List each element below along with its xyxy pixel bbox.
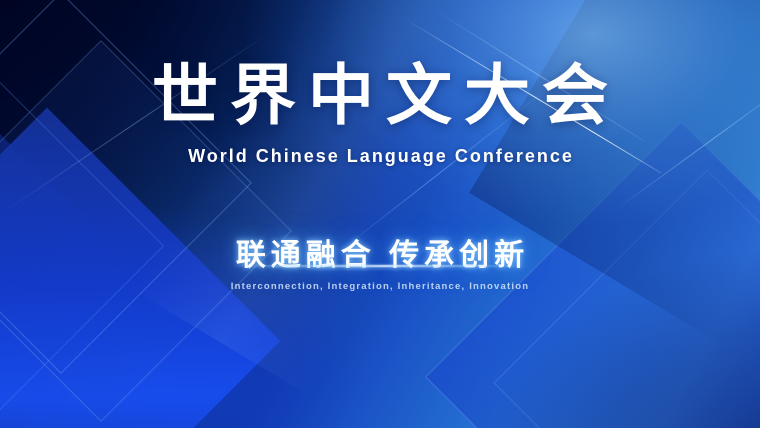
poster-content: 世界中文大会 World Chinese Language Conference… xyxy=(0,0,760,428)
slogan-english: Interconnection, Integration, Inheritanc… xyxy=(231,281,529,292)
page-subtitle: World Chinese Language Conference xyxy=(186,146,574,167)
slogan-glow-streak xyxy=(200,261,560,273)
slogan-block: 联通融合 传承创新 Interconnection, Integration, … xyxy=(231,230,529,292)
conference-poster: 世界中文大会 World Chinese Language Conference… xyxy=(0,0,760,428)
slogan-underline-streak xyxy=(230,265,530,267)
page-title: 世界中文大会 xyxy=(140,62,620,128)
